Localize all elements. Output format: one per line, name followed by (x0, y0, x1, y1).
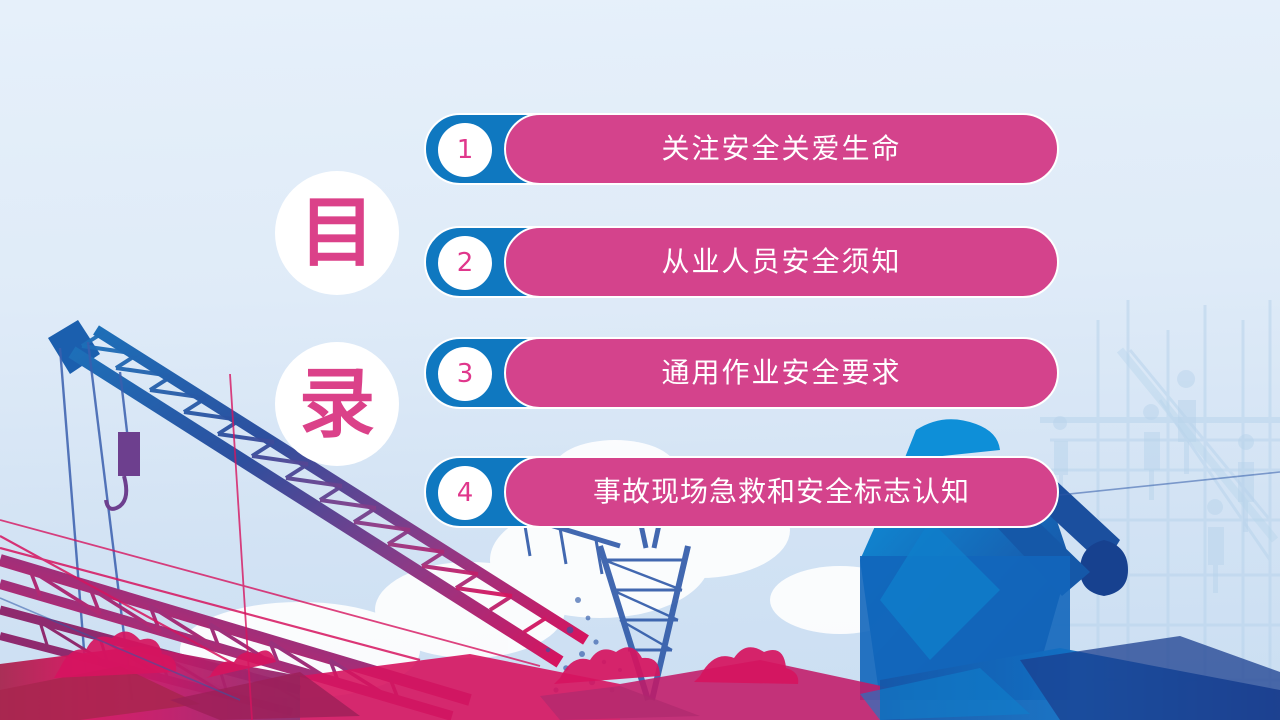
toc-label-3: 通用作业安全要求 (661, 359, 901, 387)
toc-number-circle-2: 2 (438, 236, 492, 290)
toc-number-3: 3 (457, 361, 474, 387)
toc-label-1: 关注安全关爱生命 (661, 135, 901, 163)
toc-number-4: 4 (457, 480, 474, 506)
toc-label-2: 从业人员安全须知 (661, 248, 901, 276)
toc-number-1: 1 (457, 137, 474, 163)
toc-pill-3[interactable]: 通用作业安全要求 (504, 337, 1059, 409)
toc-number-circle-3: 3 (438, 347, 492, 401)
toc-label-4: 事故现场急救和安全标志认知 (593, 478, 970, 506)
toc-number-circle-1: 1 (438, 123, 492, 177)
toc-list: 1 关注安全关爱生命 2 从业人员安全须知 3 (0, 0, 1280, 720)
toc-number-circle-4: 4 (438, 466, 492, 520)
presentation-slide: 目 录 1 关注安全关爱生命 2 从业人员安全须知 (0, 0, 1280, 720)
toc-pill-2[interactable]: 从业人员安全须知 (504, 226, 1059, 298)
toc-number-2: 2 (457, 250, 474, 276)
toc-pill-4[interactable]: 事故现场急救和安全标志认知 (504, 456, 1059, 528)
toc-pill-1[interactable]: 关注安全关爱生命 (504, 113, 1059, 185)
